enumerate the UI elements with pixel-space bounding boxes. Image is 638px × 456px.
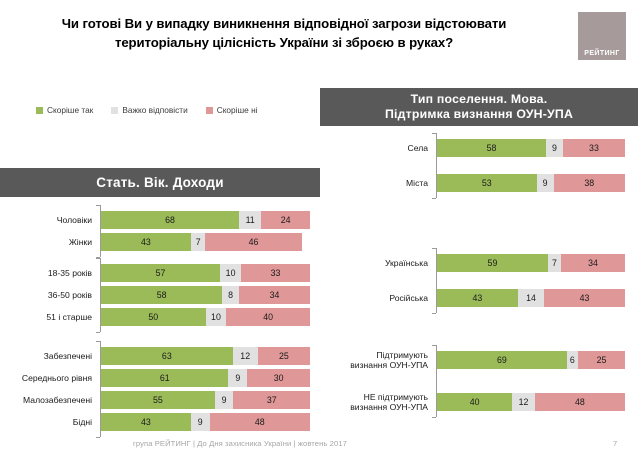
left-chart-axis-line: [100, 258, 101, 332]
page-title-line-2: територіальну цілісність України зі збро…: [24, 33, 544, 52]
left-chart-segment-hard-to-say: 10: [206, 308, 227, 326]
left-chart-row: Чоловіки681124: [12, 211, 310, 229]
left-chart-segment-hard-to-say: 12: [233, 347, 258, 365]
right-chart-axis-line: [436, 248, 437, 313]
right-chart-segment-yes: 43: [437, 289, 518, 307]
right-chart-segment-hard-to-say: 12: [512, 393, 535, 411]
footer-source-text: група РЕЙТИНГ | До Дня захисника України…: [133, 439, 347, 448]
left-chart-segment-no: 48: [210, 413, 310, 431]
legend-label-no: Скоріше ні: [217, 105, 258, 115]
right-chart-segment-no: 43: [544, 289, 625, 307]
left-panel-header: Стать. Вік. Доходи: [0, 168, 320, 197]
left-chart-row: Малозабезпечені55937: [12, 391, 310, 409]
left-chart-row-track: 501040: [101, 308, 310, 326]
left-chart-segment-yes: 61: [101, 369, 228, 387]
chart-legend: Скоріше так Важко відповісти Скоріше ні: [36, 105, 258, 115]
right-chart-row: Підтримують визнання ОУН-УПА69625: [340, 351, 625, 369]
right-chart-row-label: НЕ підтримують визнання ОУН-УПА: [340, 392, 434, 412]
right-chart-axis-tick: [432, 313, 436, 314]
left-chart-segment-no: 46: [205, 233, 301, 251]
right-chart-segment-no: 34: [561, 254, 625, 272]
right-chart-row: Міста53938: [340, 174, 625, 192]
left-chart-axis-tick: [96, 341, 100, 342]
left-chart-segment-hard-to-say: 9: [215, 391, 234, 409]
right-chart-segment-yes: 58: [437, 139, 546, 157]
left-chart-segment-no: 33: [241, 264, 310, 282]
left-chart-row-track: 58834: [101, 286, 310, 304]
legend-item-no: Скоріше ні: [206, 105, 258, 115]
right-chart-segment-no: 25: [578, 351, 625, 369]
left-chart-row-label: 18-35 років: [12, 268, 98, 278]
right-chart-row-track: 69625: [437, 351, 625, 369]
left-chart-segment-yes: 50: [101, 308, 206, 326]
left-chart-segment-hard-to-say: 9: [191, 413, 210, 431]
right-chart-row: Російська431443: [340, 289, 625, 307]
right-chart-segment-no: 38: [554, 174, 625, 192]
right-chart-segment-yes: 40: [437, 393, 512, 411]
left-chart-segment-hard-to-say: 8: [222, 286, 239, 304]
right-chart-row-label: Села: [340, 143, 434, 153]
right-chart-row: Села58933: [340, 139, 625, 157]
left-chart-segment-no: 40: [226, 308, 310, 326]
right-chart-segment-no: 33: [563, 139, 625, 157]
left-chart-segment-hard-to-say: 7: [191, 233, 206, 251]
left-chart-row-track: 631225: [101, 347, 310, 365]
right-chart-axis-tick: [432, 345, 436, 346]
left-chart-row-label: 36-50 років: [12, 290, 98, 300]
left-chart-segment-no: 25: [258, 347, 310, 365]
left-chart-row-track: 43948: [101, 413, 310, 431]
left-chart-row-track: 55937: [101, 391, 310, 409]
right-chart-segment-hard-to-say: 14: [518, 289, 544, 307]
rating-logo-label: РЕЙТИНГ: [584, 50, 620, 60]
right-chart-row-track: 59734: [437, 254, 625, 272]
left-chart-segment-yes: 55: [101, 391, 215, 409]
right-chart-axis-tick: [432, 133, 436, 134]
right-chart-row-track: 53938: [437, 174, 625, 192]
right-panel-header-line-2: Підтримка визнання ОУН-УПА: [385, 107, 573, 122]
legend-label-yes: Скоріше так: [47, 105, 93, 115]
legend-swatch-hard-to-say: [111, 107, 118, 114]
right-chart-segment-hard-to-say: 9: [546, 139, 563, 157]
left-panel-header-label: Стать. Вік. Доходи: [96, 175, 223, 190]
left-chart-segment-yes: 43: [101, 413, 191, 431]
left-chart-row-label: Забезпечені: [12, 351, 98, 361]
left-chart-segment-no: 37: [233, 391, 310, 409]
left-chart-segment-yes: 68: [101, 211, 239, 229]
left-chart-segment-yes: 58: [101, 286, 222, 304]
right-panel-header-line-1: Тип поселення. Мова.: [411, 92, 548, 107]
left-chart-segment-yes: 63: [101, 347, 233, 365]
left-chart-axis-tick: [96, 332, 100, 333]
left-chart-segment-hard-to-say: 9: [228, 369, 247, 387]
left-chart-row: Жінки43746: [12, 233, 310, 251]
legend-item-hard-to-say: Важко відповісти: [111, 105, 187, 115]
left-chart-axis-line: [100, 205, 101, 257]
right-chart-row-track: 58933: [437, 139, 625, 157]
left-chart-row: Середнього рівня61930: [12, 369, 310, 387]
left-chart-row-label: 51 і старше: [12, 312, 98, 322]
right-chart-row-track: 401248: [437, 393, 625, 411]
right-chart-segment-yes: 69: [437, 351, 567, 369]
left-chart-row-track: 43746: [101, 233, 310, 251]
right-chart-axis-tick: [432, 198, 436, 199]
left-chart-axis-line: [100, 341, 101, 437]
right-chart-segment-no: 48: [535, 393, 625, 411]
right-chart-row-label: Підтримують визнання ОУН-УПА: [340, 350, 434, 370]
right-chart-axis-tick: [432, 417, 436, 418]
left-chart-row-label: Жінки: [12, 237, 98, 247]
legend-item-yes: Скоріше так: [36, 105, 93, 115]
left-chart-row-label: Малозабезпечені: [12, 395, 98, 405]
right-chart-row-label: Українська: [340, 258, 434, 268]
left-chart-row-label: Чоловіки: [12, 215, 98, 225]
left-chart-row-label: Бідні: [12, 417, 98, 427]
left-chart-axis-tick: [96, 258, 100, 259]
left-chart-segment-no: 24: [261, 211, 310, 229]
right-chart-segment-hard-to-say: 9: [537, 174, 554, 192]
right-chart-axis-tick: [432, 248, 436, 249]
right-chart-axis-line: [436, 133, 437, 198]
legend-label-hard-to-say: Важко відповісти: [122, 105, 187, 115]
left-chart-segment-yes: 57: [101, 264, 220, 282]
legend-swatch-no: [206, 107, 213, 114]
right-chart-row-label: Міста: [340, 178, 434, 188]
left-chart-row: Бідні43948: [12, 413, 310, 431]
left-chart-row-label: Середнього рівня: [12, 373, 98, 383]
page-title: Чи готові Ви у випадку виникнення відпов…: [24, 14, 544, 52]
footer: група РЕЙТИНГ | До Дня захисника України…: [0, 437, 638, 456]
left-chart-segment-hard-to-say: 11: [239, 211, 261, 229]
right-chart-axis-line: [436, 345, 437, 417]
left-chart-axis-tick: [96, 205, 100, 206]
right-chart-segment-yes: 53: [437, 174, 537, 192]
rating-logo: РЕЙТИНГ: [578, 12, 626, 60]
legend-swatch-yes: [36, 107, 43, 114]
left-chart-segment-yes: 43: [101, 233, 191, 251]
page-title-line-1: Чи готові Ви у випадку виникнення відпов…: [24, 14, 544, 33]
left-chart-row: 51 і старше501040: [12, 308, 310, 326]
left-chart-row: 18-35 років571033: [12, 264, 310, 282]
left-chart-row: Забезпечені631225: [12, 347, 310, 365]
right-chart-row-label: Російська: [340, 293, 434, 303]
left-chart-segment-no: 30: [247, 369, 310, 387]
page-number: 7: [613, 439, 617, 448]
right-chart-segment-yes: 59: [437, 254, 548, 272]
left-chart-row-track: 681124: [101, 211, 310, 229]
left-chart-row: 36-50 років58834: [12, 286, 310, 304]
right-chart-segment-hard-to-say: 6: [567, 351, 578, 369]
left-chart-row-track: 571033: [101, 264, 310, 282]
left-chart-row-track: 61930: [101, 369, 310, 387]
right-chart-row: Українська59734: [340, 254, 625, 272]
right-panel-header: Тип поселення. Мова. Підтримка визнання …: [320, 88, 638, 126]
right-chart-row-track: 431443: [437, 289, 625, 307]
right-chart-segment-hard-to-say: 7: [548, 254, 561, 272]
left-chart-segment-hard-to-say: 10: [220, 264, 241, 282]
right-chart-row: НЕ підтримують визнання ОУН-УПА401248: [340, 393, 625, 411]
left-chart-segment-no: 34: [239, 286, 310, 304]
